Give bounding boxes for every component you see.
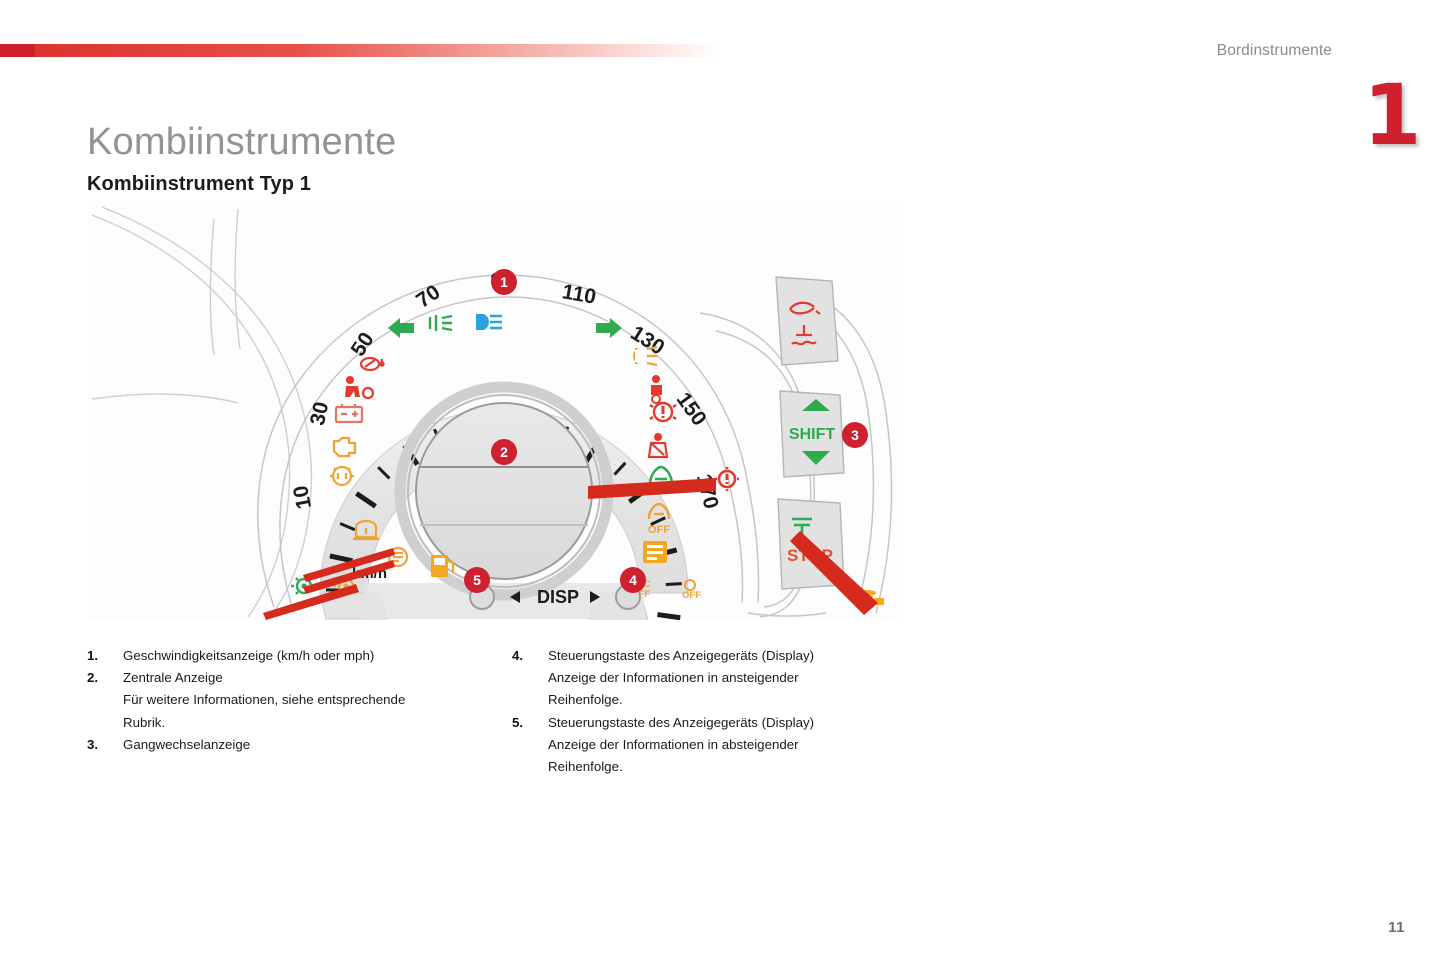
caption-body: Geschwindigkeitsanzeige (km/h oder mph) — [123, 645, 487, 667]
caption-line: Reihenfolge. — [548, 756, 912, 778]
caption-item: 2. Zentrale Anzeige Für weitere Informat… — [87, 667, 487, 734]
tick-label-30: 30 — [306, 400, 333, 428]
shift-label: SHIFT — [789, 426, 835, 443]
caption-item: 3. Gangwechselanzeige — [87, 734, 487, 756]
svg-text:3: 3 — [851, 427, 859, 443]
chapter-number-tab: 1 — [1363, 78, 1403, 154]
callout-3: 3 — [842, 422, 868, 448]
caption-number: 2. — [87, 667, 123, 689]
caption-line: Rubrik. — [123, 712, 487, 734]
svg-text:4: 4 — [629, 572, 637, 588]
caption-line: Steuerungstaste des Anzeigegeräts (Displ… — [548, 645, 912, 667]
callout-4: 4 — [620, 567, 646, 593]
caption-line: Reihenfolge. — [548, 689, 912, 711]
caption-line: Anzeige der Informationen in absteigende… — [548, 734, 912, 756]
callout-1: 1 — [491, 269, 517, 295]
caption-body: Zentrale Anzeige Für weitere Information… — [123, 667, 487, 734]
callout-5: 5 — [464, 567, 490, 593]
caption-line: Für weitere Informationen, siehe entspre… — [123, 689, 487, 711]
caption-item: 4. Steuerungstaste des Anzeigegeräts (Di… — [512, 645, 912, 712]
svg-text:OFF: OFF — [682, 590, 701, 601]
section-title: Kombiinstrument Typ 1 — [87, 173, 311, 196]
shift-indicator-panel: SHIFT — [780, 391, 844, 477]
header-accent-rule — [0, 44, 722, 57]
page-title: Kombiinstrumente — [87, 121, 396, 164]
instrument-cluster-illustration: 10 30 50 70 90 110 130 150 170 km/h — [88, 203, 902, 620]
caption-line: Anzeige der Informationen in ansteigende… — [548, 667, 912, 689]
caption-number: 3. — [87, 734, 123, 756]
caption-column-left: 1. Geschwindigkeitsanzeige (km/h oder mp… — [87, 645, 487, 756]
caption-column-right: 4. Steuerungstaste des Anzeigegeräts (Di… — [512, 645, 912, 778]
caption-item: 1. Geschwindigkeitsanzeige (km/h oder mp… — [87, 645, 487, 667]
caption-line: Steuerungstaste des Anzeigegeräts (Displ… — [548, 712, 912, 734]
callout-2: 2 — [491, 439, 517, 465]
caption-line: Gangwechselanzeige — [123, 734, 487, 756]
caption-number: 4. — [512, 645, 548, 667]
running-header-title: Bordinstrumente — [1217, 42, 1332, 60]
caption-line: Zentrale Anzeige — [123, 667, 487, 689]
svg-text:2: 2 — [500, 444, 508, 460]
oil-coolant-panel — [776, 277, 838, 365]
caption-number: 5. — [512, 712, 548, 734]
svg-text:1: 1 — [500, 274, 508, 290]
caption-body: Gangwechselanzeige — [123, 734, 487, 756]
page-number: 11 — [1388, 919, 1405, 936]
particle-filter-icon — [643, 541, 667, 563]
disp-label: DISP — [537, 587, 579, 607]
caption-line: Geschwindigkeitsanzeige (km/h oder mph) — [123, 645, 487, 667]
svg-text:OFF: OFF — [648, 524, 670, 536]
tick-label-10: 10 — [289, 484, 316, 511]
caption-body: Steuerungstaste des Anzeigegeräts (Displ… — [548, 712, 912, 779]
caption-number: 1. — [87, 645, 123, 667]
caption-item: 5. Steuerungstaste des Anzeigegeräts (Di… — [512, 712, 912, 779]
caption-body: Steuerungstaste des Anzeigegeräts (Displ… — [548, 645, 912, 712]
svg-text:5: 5 — [473, 572, 481, 588]
